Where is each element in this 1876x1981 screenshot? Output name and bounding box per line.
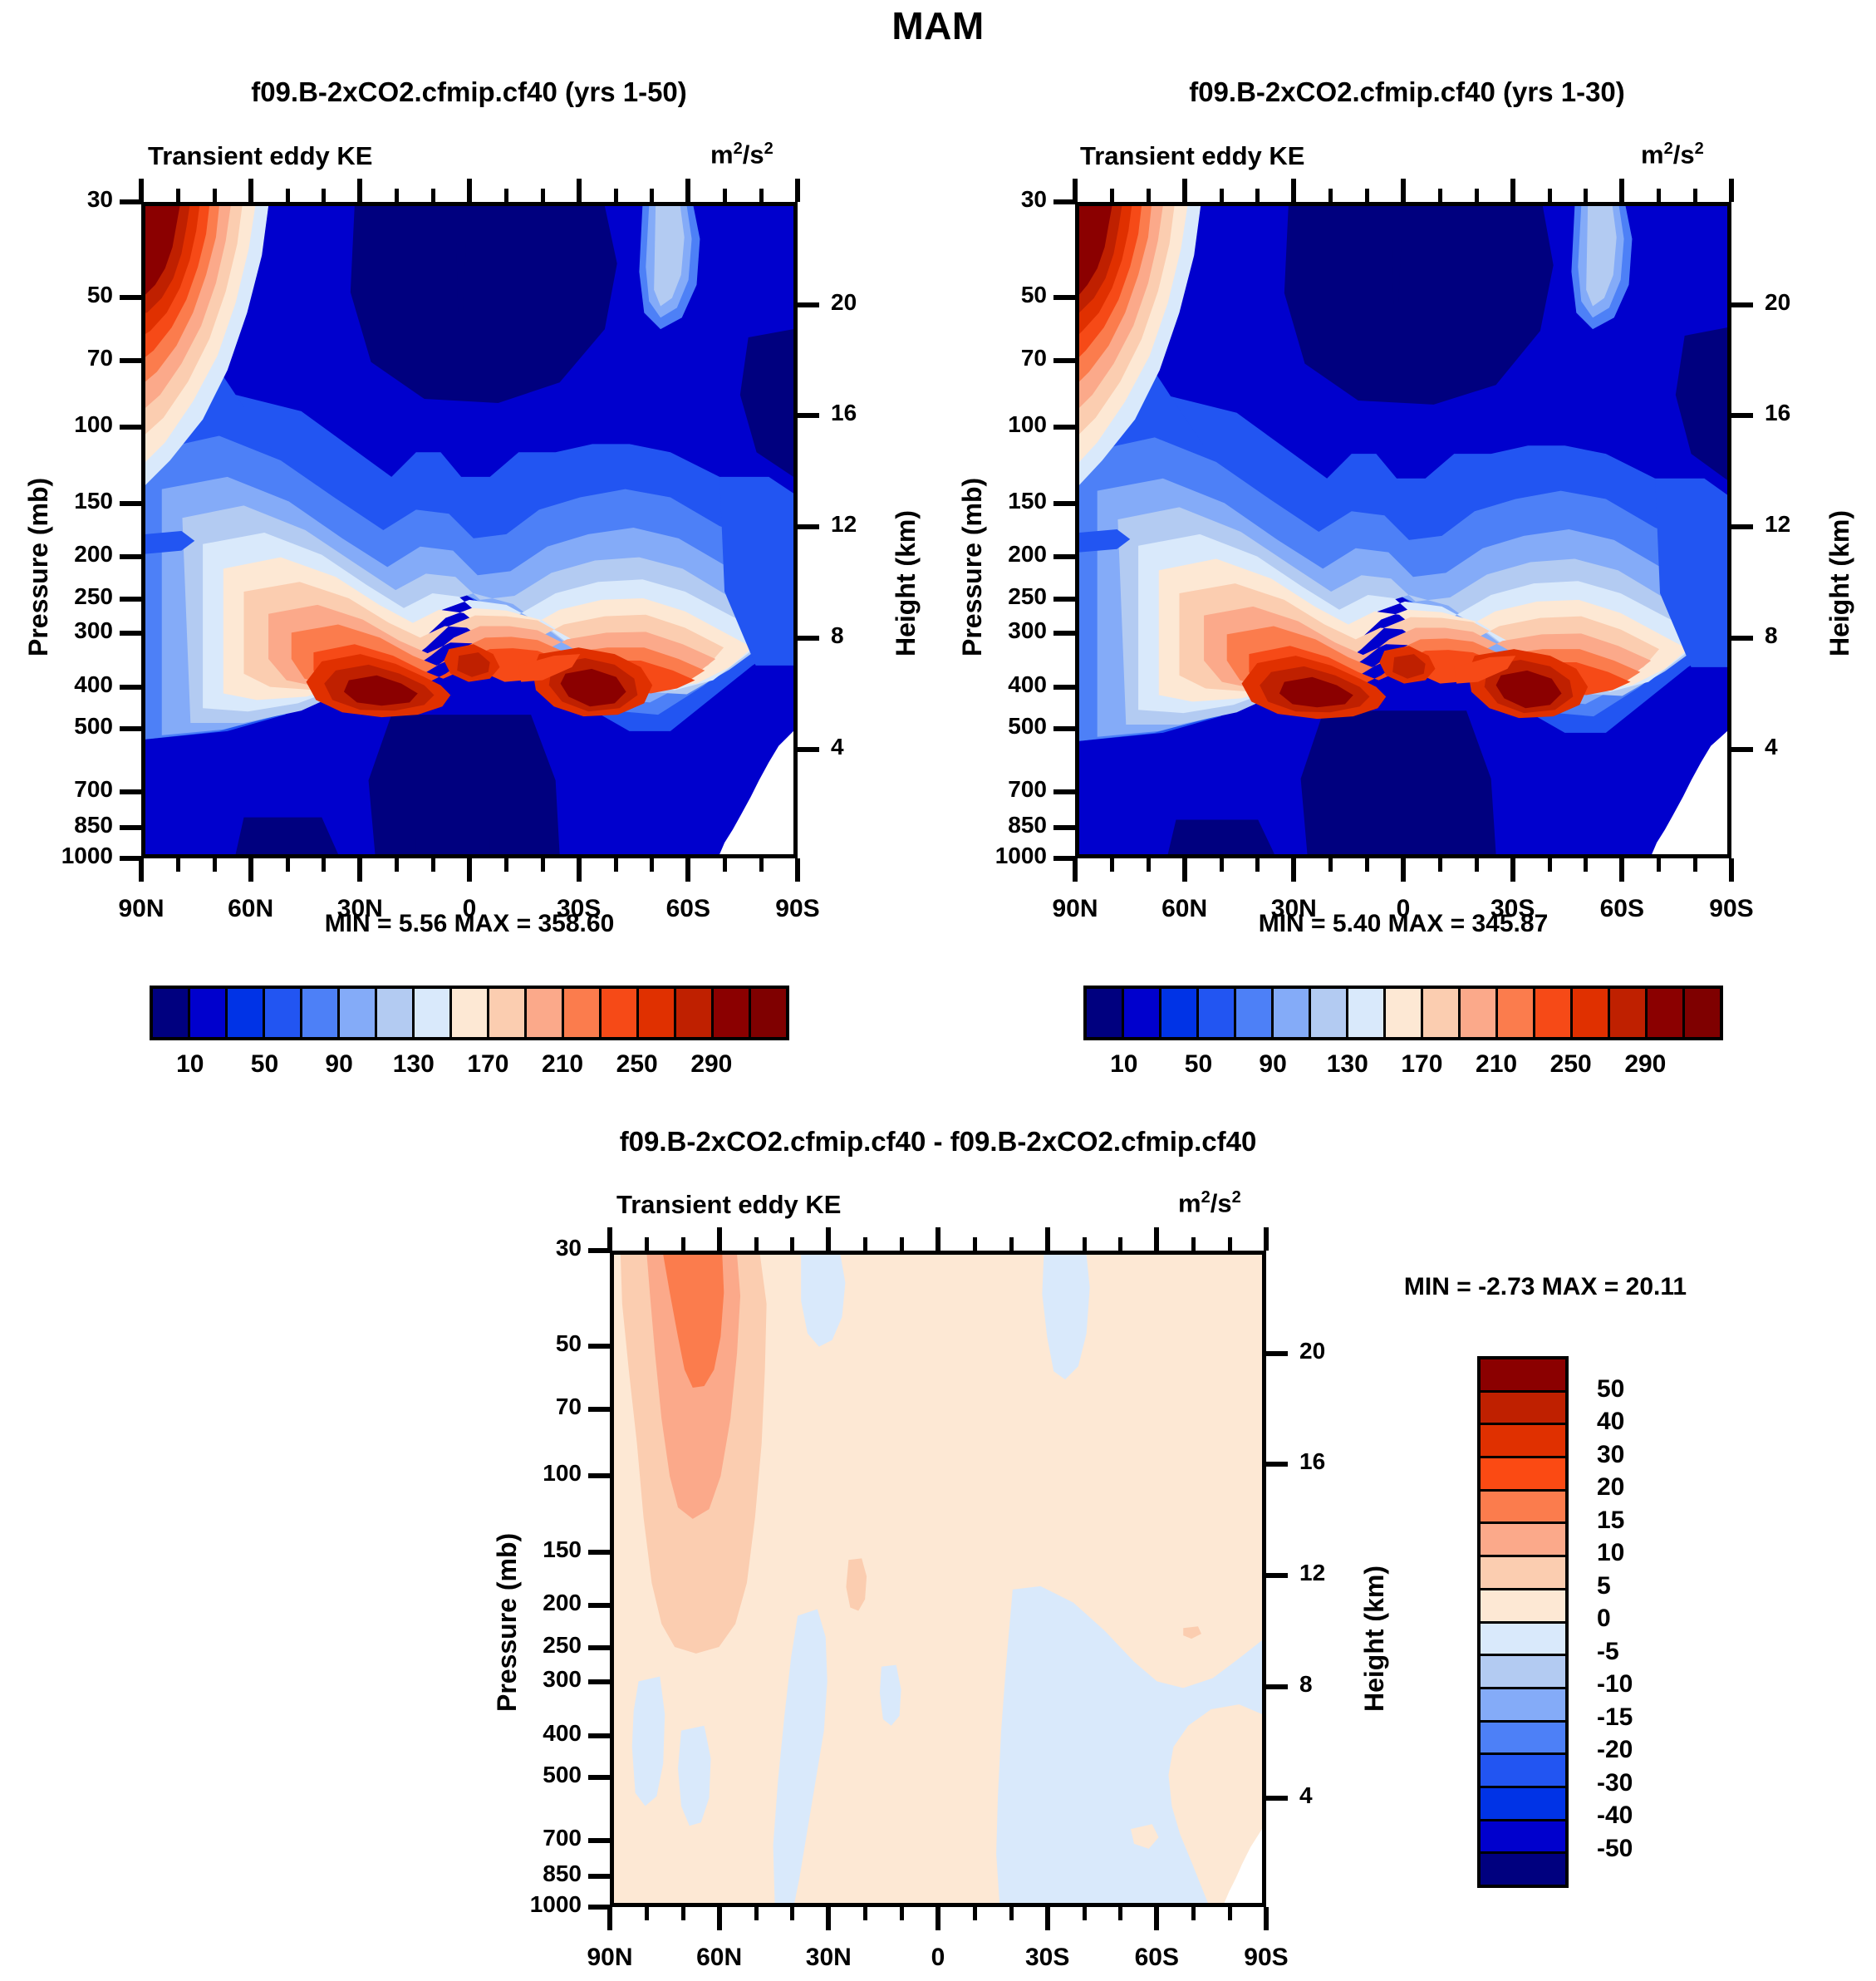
y-tick-mark bbox=[1053, 358, 1075, 363]
x-tick-minor bbox=[176, 189, 180, 202]
x-tick-mark bbox=[467, 858, 472, 882]
x-tick-minor bbox=[1328, 858, 1333, 872]
x-tick-mark bbox=[1182, 858, 1187, 882]
x-tick-mark bbox=[826, 1227, 831, 1251]
x-tick-minor bbox=[286, 189, 290, 202]
colorbar-right bbox=[1083, 986, 1723, 1040]
x-tick-minor bbox=[176, 858, 180, 872]
colorbar-tick-label: 10 bbox=[1597, 1539, 1624, 1567]
y-tick-label: 500 bbox=[934, 713, 1047, 740]
y-tick-mark bbox=[120, 358, 141, 363]
colorbar-cell bbox=[1236, 989, 1274, 1037]
colorbar-cell bbox=[1481, 1723, 1565, 1756]
colorbar-cell bbox=[1423, 989, 1461, 1037]
colorbar-cell bbox=[1481, 1458, 1565, 1492]
x-tick-label: 90S bbox=[1208, 1944, 1324, 1972]
y-tick-label: 250 bbox=[469, 1632, 582, 1659]
colorbar-cell bbox=[1685, 989, 1720, 1037]
colorbar-cell bbox=[714, 989, 751, 1037]
panel-left-title: f09.B-2xCO2.cfmip.cf40 (yrs 1-50) bbox=[0, 76, 938, 108]
x-tick-mark bbox=[607, 1227, 612, 1251]
x-tick-mark bbox=[1401, 858, 1406, 882]
x-tick-minor bbox=[213, 858, 217, 872]
panel-right-minmax: MIN = 5.40 MAX = 345.87 bbox=[1075, 910, 1731, 938]
colorbar-cell bbox=[489, 989, 527, 1037]
y-tick-label: 700 bbox=[0, 776, 113, 803]
y-tick-mark bbox=[588, 1603, 610, 1608]
x-tick-minor bbox=[1693, 858, 1697, 872]
colorbar-cell bbox=[190, 989, 228, 1037]
x-tick-minor bbox=[645, 1907, 649, 1920]
units-sup-2b: 2 bbox=[1695, 140, 1704, 158]
colorbar-cell bbox=[1481, 1590, 1565, 1624]
x-tick-mark bbox=[1045, 1227, 1050, 1251]
x-tick-minor bbox=[1255, 858, 1260, 872]
x-tick-mark bbox=[1619, 858, 1624, 882]
x-tick-mark bbox=[467, 179, 472, 202]
colorbar-cell bbox=[1648, 989, 1685, 1037]
y-tick-mark bbox=[1053, 597, 1075, 602]
y-tick-label: 300 bbox=[934, 617, 1047, 644]
colorbar-tick-label: -30 bbox=[1597, 1769, 1633, 1797]
y-tick-label: 300 bbox=[0, 617, 113, 644]
x-tick-mark bbox=[1401, 179, 1406, 202]
units-sup-2b: 2 bbox=[764, 140, 773, 158]
y-tick-mark-right bbox=[798, 413, 819, 418]
x-tick-minor bbox=[504, 858, 508, 872]
y-tick-mark-right bbox=[1731, 413, 1753, 418]
colorbar-cell bbox=[1481, 1624, 1565, 1657]
colorbar-cell bbox=[1481, 1492, 1565, 1525]
y-tick-mark bbox=[120, 631, 141, 636]
panel-right-title: f09.B-2xCO2.cfmip.cf40 (yrs 1-30) bbox=[938, 76, 1876, 108]
x-tick-minor bbox=[650, 189, 654, 202]
y-tick-label: 50 bbox=[0, 282, 113, 308]
x-tick-mark bbox=[1510, 858, 1515, 882]
y-tick-mark bbox=[588, 1344, 610, 1349]
x-tick-minor bbox=[213, 189, 217, 202]
y-tick-label-right: 4 bbox=[1299, 1782, 1374, 1809]
panel-right-units: m2/s2 bbox=[1641, 140, 1704, 170]
y-tick-label-right: 16 bbox=[1765, 400, 1839, 426]
y-tick-mark bbox=[588, 1407, 610, 1412]
x-tick-mark bbox=[577, 179, 582, 202]
x-tick-minor bbox=[759, 858, 764, 872]
y-tick-label: 70 bbox=[0, 345, 113, 371]
y-tick-label: 50 bbox=[934, 282, 1047, 308]
x-tick-minor bbox=[1191, 1907, 1196, 1920]
colorbar-tick-label: -15 bbox=[1597, 1703, 1633, 1732]
x-tick-mark bbox=[717, 1907, 722, 1930]
y-tick-mark-right bbox=[1731, 524, 1753, 529]
colorbar-tick-label: 290 bbox=[653, 1050, 769, 1079]
colorbar-cell bbox=[1481, 1656, 1565, 1689]
colorbar-cell bbox=[1087, 989, 1124, 1037]
y-tick-label: 250 bbox=[0, 583, 113, 610]
x-tick-mark bbox=[248, 179, 253, 202]
colorbar-diff bbox=[1477, 1356, 1569, 1888]
y-tick-label-right: 20 bbox=[831, 289, 906, 316]
colorbar-tick-label: 40 bbox=[1597, 1408, 1624, 1436]
y-tick-mark bbox=[120, 295, 141, 300]
units-sup-2a: 2 bbox=[1664, 140, 1673, 158]
y-tick-mark-right bbox=[798, 747, 819, 752]
x-tick-mark bbox=[795, 858, 800, 882]
x-tick-minor bbox=[1118, 1907, 1122, 1920]
x-tick-mark bbox=[139, 179, 144, 202]
colorbar-tick-label: -10 bbox=[1597, 1670, 1633, 1698]
panel-left-variable: Transient eddy KE bbox=[148, 141, 372, 171]
x-tick-minor bbox=[1191, 1237, 1196, 1251]
x-tick-minor bbox=[754, 1907, 759, 1920]
colorbar-cell bbox=[153, 989, 190, 1037]
y-tick-mark bbox=[588, 1838, 610, 1843]
panel-diff-title: f09.B-2xCO2.cfmip.cf40 - f09.B-2xCO2.cfm… bbox=[0, 1126, 1876, 1158]
colorbar-cell bbox=[265, 989, 302, 1037]
colorbar-tick-label: 20 bbox=[1597, 1473, 1624, 1502]
y-tick-label-right: 16 bbox=[1299, 1448, 1374, 1475]
colorbar-cell bbox=[1573, 989, 1610, 1037]
x-tick-mark bbox=[357, 179, 362, 202]
x-tick-mark bbox=[1729, 858, 1734, 882]
colorbar-cell bbox=[602, 989, 639, 1037]
y-tick-mark bbox=[120, 726, 141, 731]
x-tick-minor bbox=[614, 189, 618, 202]
y-tick-mark bbox=[588, 1473, 610, 1478]
colorbar-cell bbox=[1481, 1425, 1565, 1458]
x-tick-minor bbox=[541, 858, 545, 872]
colorbar-cell bbox=[1311, 989, 1348, 1037]
panel-diff-plot-area bbox=[610, 1251, 1266, 1907]
x-tick-minor bbox=[1475, 858, 1479, 872]
colorbar-tick-label: 290 bbox=[1587, 1050, 1703, 1079]
colorbar-cell bbox=[1481, 1393, 1565, 1426]
y-tick-label-right: 8 bbox=[831, 622, 906, 649]
colorbar-tick-label: 5 bbox=[1597, 1572, 1611, 1600]
x-tick-minor bbox=[863, 1237, 867, 1251]
x-tick-minor bbox=[1548, 189, 1552, 202]
colorbar-cell bbox=[1535, 989, 1573, 1037]
x-tick-mark bbox=[717, 1227, 722, 1251]
x-tick-minor bbox=[1438, 858, 1442, 872]
x-tick-label: 90N bbox=[552, 1944, 668, 1972]
y-tick-label-right: 4 bbox=[831, 734, 906, 760]
colorbar-cell bbox=[1274, 989, 1311, 1037]
x-tick-minor bbox=[1657, 189, 1661, 202]
y-tick-label: 400 bbox=[934, 671, 1047, 698]
colorbar-cell bbox=[1124, 989, 1161, 1037]
colorbar-tick-label: -50 bbox=[1597, 1835, 1633, 1863]
x-tick-mark bbox=[357, 858, 362, 882]
colorbar-tick-label: 0 bbox=[1597, 1605, 1611, 1633]
y-tick-mark bbox=[588, 1733, 610, 1738]
x-tick-minor bbox=[790, 1907, 794, 1920]
y-tick-mark-right bbox=[1266, 1684, 1288, 1689]
y-tick-mark-right bbox=[1731, 302, 1753, 307]
x-tick-mark bbox=[1073, 179, 1078, 202]
colorbar-cell bbox=[564, 989, 602, 1037]
y-tick-label: 100 bbox=[469, 1460, 582, 1487]
x-tick-mark bbox=[936, 1227, 940, 1251]
y-tick-label: 200 bbox=[0, 541, 113, 568]
panel-left-minmax: MIN = 5.56 MAX = 358.60 bbox=[141, 910, 798, 938]
colorbar-cell bbox=[1610, 989, 1648, 1037]
units-m: m bbox=[1641, 140, 1664, 169]
colorbar-cell bbox=[1481, 1788, 1565, 1821]
y-tick-label: 1000 bbox=[469, 1891, 582, 1918]
y-tick-label: 30 bbox=[0, 186, 113, 213]
y-tick-mark bbox=[120, 554, 141, 559]
x-tick-minor bbox=[1328, 189, 1333, 202]
y-tick-mark bbox=[120, 685, 141, 690]
y-tick-label: 150 bbox=[934, 488, 1047, 514]
y-tick-label-right: 4 bbox=[1765, 734, 1839, 760]
colorbar-cell bbox=[1481, 1689, 1565, 1723]
colorbar-cell bbox=[639, 989, 676, 1037]
x-tick-mark bbox=[139, 858, 144, 882]
colorbar-tick-label: 15 bbox=[1597, 1507, 1624, 1535]
x-tick-label: 60N bbox=[661, 1944, 778, 1972]
units-per-s: /s bbox=[743, 140, 764, 169]
units-m: m bbox=[710, 140, 734, 169]
x-tick-minor bbox=[863, 1907, 867, 1920]
x-tick-minor bbox=[973, 1237, 977, 1251]
x-tick-mark bbox=[1510, 179, 1515, 202]
x-tick-mark bbox=[248, 858, 253, 882]
x-tick-minor bbox=[1255, 189, 1260, 202]
y-tick-mark bbox=[1053, 685, 1075, 690]
x-tick-mark bbox=[577, 858, 582, 882]
x-tick-minor bbox=[723, 189, 727, 202]
x-tick-mark bbox=[685, 858, 690, 882]
colorbar-cell bbox=[228, 989, 265, 1037]
x-tick-minor bbox=[1584, 858, 1588, 872]
x-tick-label: 30N bbox=[770, 1944, 886, 1972]
x-tick-minor bbox=[759, 189, 764, 202]
y-tick-label: 200 bbox=[934, 541, 1047, 568]
x-tick-minor bbox=[541, 189, 545, 202]
y-tick-label: 100 bbox=[934, 411, 1047, 438]
figure-root: MAM f09.B-2xCO2.cfmip.cf40 (yrs 1-50) Tr… bbox=[0, 0, 1876, 1981]
y-tick-label-right: 20 bbox=[1765, 289, 1839, 316]
y-tick-label: 30 bbox=[934, 186, 1047, 213]
x-tick-mark bbox=[607, 1907, 612, 1930]
x-tick-minor bbox=[286, 858, 290, 872]
x-tick-label: 30S bbox=[990, 1944, 1106, 1972]
y-tick-label: 1000 bbox=[934, 843, 1047, 869]
y-tick-label: 500 bbox=[0, 713, 113, 740]
units-sup-2a: 2 bbox=[734, 140, 743, 158]
x-tick-minor bbox=[431, 858, 435, 872]
y-tick-mark-right bbox=[1266, 1351, 1288, 1356]
y-tick-label: 300 bbox=[469, 1666, 582, 1693]
y-tick-label: 500 bbox=[469, 1762, 582, 1788]
y-tick-mark-right bbox=[1731, 636, 1753, 641]
y-tick-mark bbox=[120, 501, 141, 506]
x-tick-minor bbox=[900, 1907, 904, 1920]
colorbar-cell bbox=[1481, 1359, 1565, 1393]
colorbar-cell bbox=[1481, 1854, 1565, 1885]
y-tick-mark bbox=[1053, 825, 1075, 830]
x-tick-minor bbox=[1365, 858, 1369, 872]
y-tick-label-right: 12 bbox=[1765, 511, 1839, 538]
y-tick-mark bbox=[1053, 726, 1075, 731]
colorbar-tick-label: -5 bbox=[1597, 1638, 1619, 1666]
y-tick-label: 150 bbox=[469, 1536, 582, 1563]
panel-diff-contour-field bbox=[614, 1255, 1262, 1903]
x-tick-minor bbox=[645, 1237, 649, 1251]
x-tick-minor bbox=[1110, 858, 1114, 872]
colorbar-cell bbox=[1481, 1755, 1565, 1788]
x-tick-minor bbox=[1009, 1907, 1014, 1920]
y-tick-mark bbox=[588, 1775, 610, 1780]
y-tick-mark-right bbox=[798, 524, 819, 529]
x-tick-minor bbox=[1228, 1907, 1232, 1920]
x-tick-minor bbox=[1118, 1237, 1122, 1251]
x-tick-minor bbox=[431, 189, 435, 202]
x-tick-minor bbox=[1228, 1237, 1232, 1251]
x-tick-minor bbox=[681, 1237, 685, 1251]
x-tick-minor bbox=[1438, 189, 1442, 202]
y-tick-mark bbox=[588, 1874, 610, 1879]
x-tick-minor bbox=[1009, 1237, 1014, 1251]
y-tick-label: 250 bbox=[934, 583, 1047, 610]
panel-right-contour-field bbox=[1079, 206, 1727, 854]
colorbar-cell bbox=[1481, 1524, 1565, 1557]
y-tick-label: 50 bbox=[469, 1330, 582, 1357]
y-tick-label: 850 bbox=[0, 812, 113, 838]
colorbar-cell bbox=[751, 989, 786, 1037]
x-tick-minor bbox=[395, 858, 399, 872]
y-tick-label: 1000 bbox=[0, 843, 113, 869]
units-per-s: /s bbox=[1211, 1188, 1232, 1217]
x-tick-minor bbox=[614, 858, 618, 872]
y-tick-label-right: 20 bbox=[1299, 1338, 1374, 1364]
y-tick-label-right: 8 bbox=[1299, 1671, 1374, 1698]
y-tick-mark-right bbox=[798, 302, 819, 307]
y-tick-mark bbox=[1053, 295, 1075, 300]
colorbar-cell bbox=[1481, 1821, 1565, 1855]
y-tick-mark bbox=[1053, 501, 1075, 506]
x-tick-minor bbox=[1147, 189, 1151, 202]
colorbar-cell bbox=[340, 989, 377, 1037]
colorbar-tick-label: -40 bbox=[1597, 1802, 1633, 1830]
x-tick-minor bbox=[1083, 1237, 1087, 1251]
x-tick-mark bbox=[1045, 1907, 1050, 1930]
x-tick-mark bbox=[1154, 1907, 1159, 1930]
panel-diff-variable: Transient eddy KE bbox=[616, 1190, 841, 1220]
y-tick-mark-right bbox=[1266, 1573, 1288, 1578]
x-tick-minor bbox=[322, 858, 326, 872]
y-tick-mark bbox=[588, 1550, 610, 1555]
colorbar-cell bbox=[1199, 989, 1236, 1037]
x-tick-minor bbox=[504, 189, 508, 202]
x-tick-minor bbox=[973, 1907, 977, 1920]
y-tick-label: 700 bbox=[934, 776, 1047, 803]
units-m: m bbox=[1178, 1188, 1201, 1217]
panel-diff-units: m2/s2 bbox=[1178, 1188, 1241, 1218]
panel-left-plot-area bbox=[141, 202, 798, 858]
x-tick-mark bbox=[1729, 179, 1734, 202]
panel-left-units: m2/s2 bbox=[710, 140, 773, 170]
y-tick-label-right: 16 bbox=[831, 400, 906, 426]
y-tick-mark bbox=[120, 425, 141, 430]
x-tick-minor bbox=[754, 1237, 759, 1251]
colorbar-cell bbox=[676, 989, 714, 1037]
colorbar-cell bbox=[1461, 989, 1498, 1037]
y-tick-label-right: 8 bbox=[1765, 622, 1839, 649]
y-tick-mark-right bbox=[1266, 1796, 1288, 1801]
y-tick-label: 70 bbox=[469, 1394, 582, 1420]
x-tick-minor bbox=[1657, 858, 1661, 872]
y-tick-label: 700 bbox=[469, 1825, 582, 1851]
x-tick-minor bbox=[1147, 858, 1151, 872]
colorbar-cell bbox=[527, 989, 564, 1037]
x-tick-mark bbox=[1073, 858, 1078, 882]
y-tick-label-right: 12 bbox=[1299, 1560, 1374, 1586]
x-tick-minor bbox=[1548, 858, 1552, 872]
colorbar-cell bbox=[415, 989, 452, 1037]
panel-left-contour-field bbox=[145, 206, 793, 854]
y-tick-mark bbox=[120, 789, 141, 794]
x-tick-minor bbox=[1693, 189, 1697, 202]
colorbar-cell bbox=[1348, 989, 1386, 1037]
x-tick-minor bbox=[790, 1237, 794, 1251]
colorbar-cell bbox=[1161, 989, 1199, 1037]
x-tick-minor bbox=[1220, 189, 1224, 202]
x-tick-label: 60S bbox=[1098, 1944, 1215, 1972]
x-tick-minor bbox=[650, 858, 654, 872]
x-tick-mark bbox=[685, 179, 690, 202]
y-tick-mark bbox=[1053, 631, 1075, 636]
x-tick-mark bbox=[1264, 1227, 1269, 1251]
colorbar-tick-label: 50 bbox=[1597, 1375, 1624, 1403]
y-tick-label: 70 bbox=[934, 345, 1047, 371]
x-tick-minor bbox=[1365, 189, 1369, 202]
x-tick-mark bbox=[1154, 1227, 1159, 1251]
colorbar-left bbox=[150, 986, 789, 1040]
x-tick-mark bbox=[1619, 179, 1624, 202]
x-tick-mark bbox=[936, 1907, 940, 1930]
x-tick-minor bbox=[1475, 189, 1479, 202]
x-tick-minor bbox=[681, 1907, 685, 1920]
x-tick-minor bbox=[1584, 189, 1588, 202]
x-tick-minor bbox=[900, 1237, 904, 1251]
figure-suptitle: MAM bbox=[0, 3, 1876, 48]
y-tick-mark bbox=[1053, 425, 1075, 430]
colorbar-cell bbox=[452, 989, 489, 1037]
y-tick-label: 100 bbox=[0, 411, 113, 438]
colorbar-tick-label: 30 bbox=[1597, 1441, 1624, 1469]
x-tick-mark bbox=[1264, 1907, 1269, 1930]
y-tick-label-right: 12 bbox=[831, 511, 906, 538]
y-tick-label: 30 bbox=[469, 1235, 582, 1261]
y-tick-label: 400 bbox=[0, 671, 113, 698]
colorbar-tick-label: -20 bbox=[1597, 1736, 1633, 1764]
units-sup-2a: 2 bbox=[1201, 1188, 1211, 1207]
y-tick-label: 200 bbox=[469, 1590, 582, 1616]
colorbar-cell bbox=[377, 989, 415, 1037]
y-tick-mark bbox=[588, 1645, 610, 1650]
x-tick-minor bbox=[1220, 858, 1224, 872]
y-tick-mark-right bbox=[1731, 747, 1753, 752]
colorbar-cell bbox=[302, 989, 340, 1037]
y-tick-mark bbox=[1053, 789, 1075, 794]
y-tick-label: 400 bbox=[469, 1720, 582, 1747]
units-sup-2b: 2 bbox=[1232, 1188, 1241, 1207]
x-tick-mark bbox=[1291, 858, 1296, 882]
panel-right-plot-area bbox=[1075, 202, 1731, 858]
